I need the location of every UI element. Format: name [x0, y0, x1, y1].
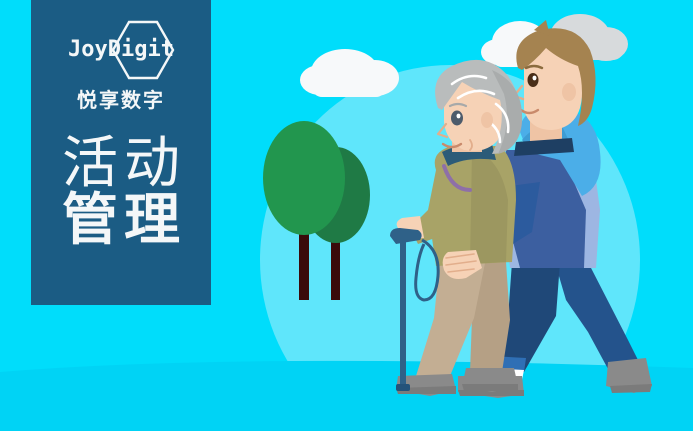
- page-title: 活动 管理: [56, 135, 186, 249]
- ground-shape: [0, 361, 693, 431]
- elder-ear: [481, 112, 493, 128]
- man-eye: [528, 73, 539, 87]
- brand-name-cn: 悦享数字: [77, 84, 165, 113]
- brand-logo: JoyDigit: [46, 22, 196, 78]
- brand-wordmark: JoyDigit: [68, 39, 174, 61]
- title-panel: JoyDigit 悦享数字 活动 管理: [31, 0, 211, 305]
- cane-shaft: [400, 240, 406, 388]
- banner-canvas: JoyDigit 悦享数字 活动 管理: [0, 0, 693, 431]
- man-ear: [562, 83, 576, 101]
- page-title-line-1: 活动: [56, 135, 186, 192]
- cane-tip: [396, 384, 410, 391]
- page-title-line-2: 管理: [56, 192, 186, 249]
- elder-eye: [451, 111, 463, 126]
